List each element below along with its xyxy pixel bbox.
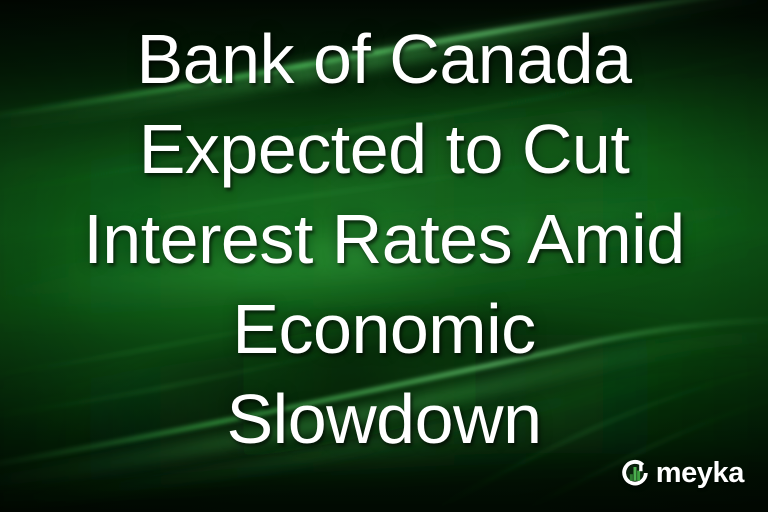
headline-line-2: Expected to Cut — [0, 104, 768, 194]
headline-title: Bank of Canada Expected to Cut Interest … — [0, 14, 768, 464]
headline-line-4: Economic — [0, 284, 768, 374]
news-banner-poster: Bank of Canada Expected to Cut Interest … — [0, 0, 768, 512]
meyka-circular-bar-chart-icon — [620, 458, 650, 488]
meyka-wordmark: meyka — [656, 459, 744, 488]
headline-line-3: Interest Rates Amid — [0, 194, 768, 284]
meyka-logo[interactable]: meyka — [620, 458, 744, 488]
headline-line-5: Slowdown — [0, 374, 768, 464]
headline-line-1: Bank of Canada — [0, 14, 768, 104]
